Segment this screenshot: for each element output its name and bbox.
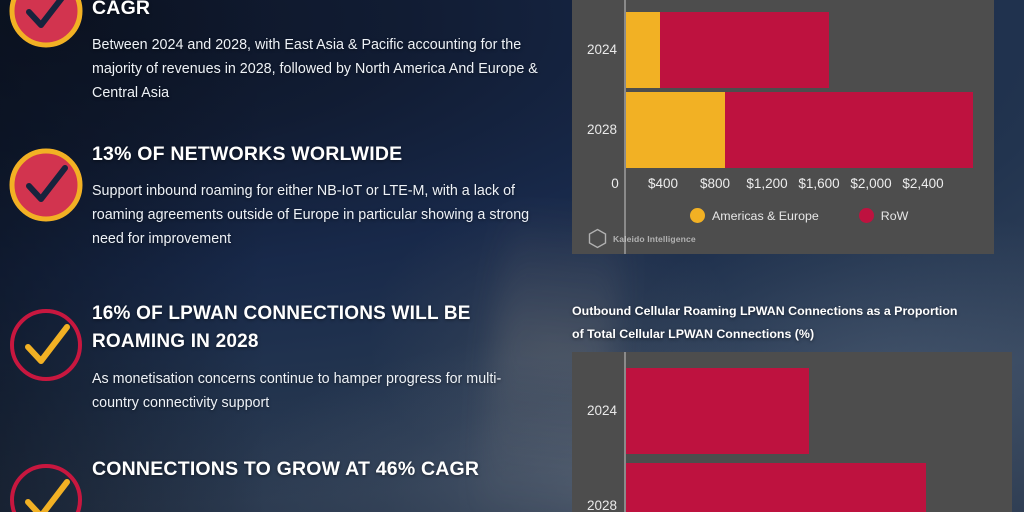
bullet-body: 13% OF NETWORKS WORLWIDE Support inbound… bbox=[92, 140, 566, 251]
roaming-proportion-chart-panel: 2024 2028 bbox=[572, 352, 1012, 512]
bar-segment-row bbox=[725, 92, 973, 168]
bullet-heading: CONNECTIVITY REVENUE GROWTH AT 14% CAGR bbox=[92, 0, 548, 22]
bullet-body: CONNECTIONS TO GROW AT 46% CAGR bbox=[92, 455, 566, 483]
bar-segment-americas-europe bbox=[626, 92, 725, 168]
bar-segment-row bbox=[626, 368, 809, 454]
x-tick-label: 0 bbox=[611, 176, 619, 191]
bullet-item: 16% OF LPWAN CONNECTIONS WILL BE ROAMING… bbox=[0, 300, 566, 415]
x-tick-label: $1,600 bbox=[798, 176, 839, 191]
roaming-proportion-chart: 2024 2028 bbox=[572, 352, 1012, 512]
bullet-text: Between 2024 and 2028, with East Asia & … bbox=[92, 33, 548, 105]
bar-segment-row bbox=[626, 463, 926, 512]
bullet-body: CONNECTIVITY REVENUE GROWTH AT 14% CAGR … bbox=[92, 0, 566, 105]
x-axis-ticks: 0 $400 $800 $1,200 $1,600 $2,000 $2,400 bbox=[624, 176, 994, 196]
check-circle-icon bbox=[7, 461, 85, 512]
roaming-chart-title: Outbound Cellular Roaming LPWAN Connecti… bbox=[572, 300, 972, 346]
category-label: 2028 bbox=[576, 463, 626, 512]
chart-legend: Americas & Europe RoW bbox=[690, 208, 908, 223]
revenue-chart-panel: 2024 2028 0 $400 $800 bbox=[572, 0, 994, 254]
roaming-chart-plot: 2024 2028 bbox=[624, 352, 1012, 512]
check-circle-icon-wrap bbox=[0, 140, 92, 224]
legend-swatch-crimson-icon bbox=[859, 208, 874, 223]
x-tick-label: $800 bbox=[700, 176, 730, 191]
bullet-text: As monetisation concerns continue to ham… bbox=[92, 367, 548, 415]
category-label: 2024 bbox=[576, 12, 626, 88]
legend-item-row: RoW bbox=[859, 208, 909, 223]
bar-segment-row bbox=[660, 12, 829, 88]
check-circle-icon bbox=[7, 0, 85, 50]
check-circle-icon-wrap bbox=[0, 300, 92, 384]
bar-row: 2028 bbox=[626, 92, 973, 168]
legend-label: Americas & Europe bbox=[712, 209, 819, 223]
x-tick-label: $1,200 bbox=[746, 176, 787, 191]
bullet-item: CONNECTIVITY REVENUE GROWTH AT 14% CAGR … bbox=[0, 0, 566, 105]
check-circle-icon bbox=[7, 306, 85, 384]
revenue-chart: 2024 2028 0 $400 $800 bbox=[572, 0, 994, 254]
bullet-item: 13% OF NETWORKS WORLWIDE Support inbound… bbox=[0, 140, 566, 251]
bar-row: 2028 bbox=[626, 463, 926, 512]
check-circle-icon-wrap bbox=[0, 455, 92, 512]
category-label: 2024 bbox=[576, 368, 626, 454]
x-tick-label: $400 bbox=[648, 176, 678, 191]
watermark: Kaleido Intelligence bbox=[588, 228, 696, 249]
legend-swatch-amber-icon bbox=[690, 208, 705, 223]
check-circle-icon-wrap bbox=[0, 0, 92, 50]
hexagon-logo-icon bbox=[588, 228, 607, 249]
bar-segment-americas-europe bbox=[626, 12, 660, 88]
bullet-text: Support inbound roaming for either NB-Io… bbox=[92, 179, 548, 251]
legend-item-americas-europe: Americas & Europe bbox=[690, 208, 819, 223]
bullet-list: CONNECTIVITY REVENUE GROWTH AT 14% CAGR … bbox=[0, 0, 566, 512]
x-tick-label: $2,400 bbox=[902, 176, 943, 191]
check-circle-icon bbox=[7, 146, 85, 224]
bullet-heading: CONNECTIONS TO GROW AT 46% CAGR bbox=[92, 455, 548, 483]
watermark-label: Kaleido Intelligence bbox=[613, 234, 696, 244]
bullet-heading: 16% OF LPWAN CONNECTIONS WILL BE ROAMING… bbox=[92, 300, 548, 356]
bullet-body: 16% OF LPWAN CONNECTIONS WILL BE ROAMING… bbox=[92, 300, 566, 415]
bullet-item: CONNECTIONS TO GROW AT 46% CAGR bbox=[0, 455, 566, 512]
legend-label: RoW bbox=[881, 209, 909, 223]
bar-row: 2024 bbox=[626, 368, 809, 454]
category-label: 2028 bbox=[576, 92, 626, 168]
infographic-page: CONNECTIVITY REVENUE GROWTH AT 14% CAGR … bbox=[0, 0, 1024, 512]
charts-column: 2024 2028 0 $400 $800 bbox=[566, 0, 1024, 512]
bar-row: 2024 bbox=[626, 12, 829, 88]
x-tick-label: $2,000 bbox=[850, 176, 891, 191]
bullet-heading: 13% OF NETWORKS WORLWIDE bbox=[92, 140, 548, 168]
